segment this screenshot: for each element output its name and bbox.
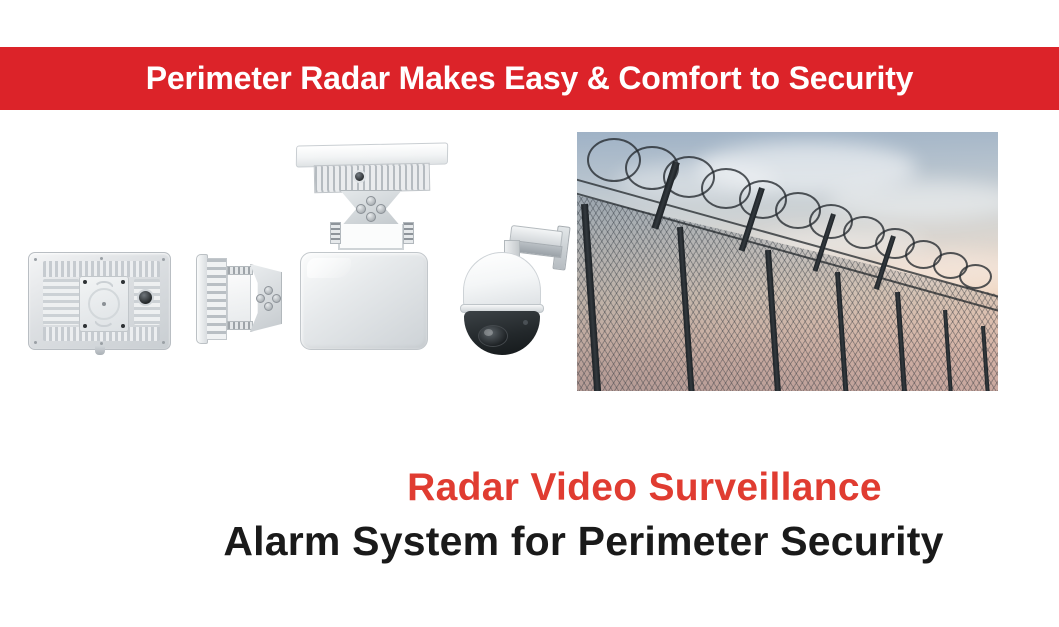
product-image-radar-front-panel xyxy=(300,252,428,350)
radar-connector-stub xyxy=(95,346,105,355)
headline-text: Perimeter Radar Makes Easy & Comfort to … xyxy=(146,60,914,97)
bracket-nut-icon xyxy=(264,286,273,295)
poster-canvas: Perimeter Radar Makes Easy & Comfort to … xyxy=(0,0,1059,627)
camera-lens-glint xyxy=(484,329,493,336)
product-gallery xyxy=(0,130,577,395)
headline-banner: Perimeter Radar Makes Easy & Comfort to … xyxy=(0,47,1059,110)
product-image-radar-top-view xyxy=(296,144,448,254)
radar-rear-body xyxy=(28,252,171,350)
radome-face xyxy=(300,252,428,350)
product-image-radar-side-view xyxy=(196,248,282,354)
radome-highlight xyxy=(307,258,351,278)
edge-screw-icon xyxy=(100,342,103,345)
bracket-nut-icon xyxy=(366,212,376,222)
mount-bolt-icon xyxy=(121,280,125,284)
heat-sink-fins-top-icon xyxy=(43,261,160,277)
bracket-nut-icon xyxy=(356,204,366,214)
corner-screw-icon xyxy=(34,341,37,344)
bracket-nut-icon xyxy=(272,294,281,303)
camera-lens-icon xyxy=(478,325,508,347)
corner-screw-icon xyxy=(162,341,165,344)
bracket-nut-icon xyxy=(256,294,265,303)
pole-mount-strap xyxy=(338,224,404,250)
corner-screw-icon xyxy=(34,258,37,261)
cable-port-icon xyxy=(353,170,366,183)
camera-dome-upper xyxy=(463,252,541,308)
bracket-clamp-icon xyxy=(227,266,253,275)
bracket-clamp-icon xyxy=(227,321,253,330)
camera-dome-lower xyxy=(464,311,540,355)
mount-arc-bottom-icon xyxy=(93,317,115,327)
corner-screw-icon xyxy=(162,258,165,261)
strap-grip-icon xyxy=(403,222,414,244)
razor-wire-coil xyxy=(959,264,992,289)
perimeter-fence-photo xyxy=(577,132,998,391)
bracket-nut-icon xyxy=(366,196,376,206)
mount-arc-top-icon xyxy=(93,281,115,291)
strap-grip-icon xyxy=(330,222,341,244)
cable-port-icon xyxy=(137,289,154,306)
mount-bolt-icon xyxy=(121,324,125,328)
subtitle-line-secondary: Alarm System for Perimeter Security xyxy=(0,514,1059,568)
product-image-ptz-dome-camera xyxy=(458,210,568,355)
product-image-radar-rear-view xyxy=(28,252,171,350)
bracket-nut-icon xyxy=(376,204,386,214)
heat-sink-fins-side-icon xyxy=(207,258,227,340)
camera-ir-led-icon xyxy=(523,320,528,325)
edge-screw-icon xyxy=(100,257,103,260)
heat-sink-fins-top-view-icon xyxy=(314,163,431,193)
subtitle-block: Radar Video Surveillance Alarm System fo… xyxy=(0,462,1059,568)
mount-bolt-icon xyxy=(83,324,87,328)
heat-sink-ribs-left-icon xyxy=(43,279,79,325)
mount-bolt-icon xyxy=(83,280,87,284)
bracket-nut-icon xyxy=(264,302,273,311)
subtitle-line-primary: Radar Video Surveillance xyxy=(0,462,1059,514)
mount-hub-icon xyxy=(102,302,106,306)
radar-mounting-plate xyxy=(79,276,129,332)
